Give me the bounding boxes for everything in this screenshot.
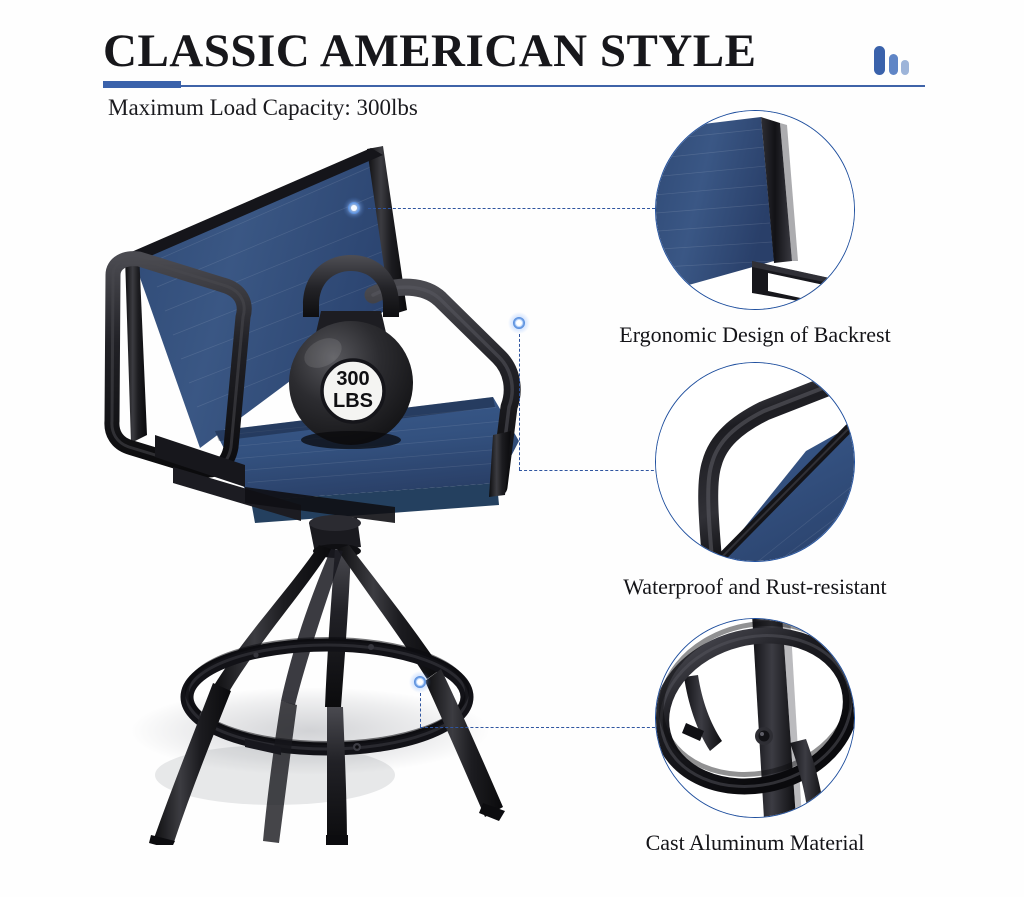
feature-panel-waterproof: Waterproof and Rust-resistant (600, 362, 910, 562)
feature-image-backrest (655, 110, 855, 310)
hotspot-armrest[interactable] (508, 312, 530, 334)
three-bars-icon (872, 44, 914, 78)
feature-caption-aluminum: Cast Aluminum Material (600, 830, 910, 856)
hotspot-core (516, 320, 522, 326)
divider-accent-bar (103, 81, 181, 88)
divider-thin-line (103, 85, 925, 87)
page-title: CLASSIC AMERICAN STYLE (103, 28, 757, 75)
feature-panel-aluminum: Cast Aluminum Material (600, 618, 910, 818)
hotspot-base-ring[interactable] (409, 671, 431, 693)
svg-text:LBS: LBS (333, 390, 373, 412)
hotspot-backrest[interactable] (343, 197, 365, 219)
hotspot-core (417, 679, 423, 685)
feature-panel-backrest: Ergonomic Design of Backrest (600, 110, 910, 310)
feature-image-aluminum (655, 618, 855, 818)
svg-text:300: 300 (336, 368, 369, 390)
connector-armrest-vertical (519, 334, 520, 470)
hotspot-core (351, 205, 357, 211)
product-photo-swivel-bar-stool: 300 LBS (95, 135, 565, 845)
title-divider (103, 81, 925, 88)
feature-caption-backrest: Ergonomic Design of Backrest (600, 322, 910, 348)
page-subtitle: Maximum Load Capacity: 300lbs (108, 95, 418, 121)
feature-caption-waterproof: Waterproof and Rust-resistant (600, 574, 910, 600)
connector-base-vertical (420, 693, 421, 727)
feature-image-waterproof (655, 362, 855, 562)
